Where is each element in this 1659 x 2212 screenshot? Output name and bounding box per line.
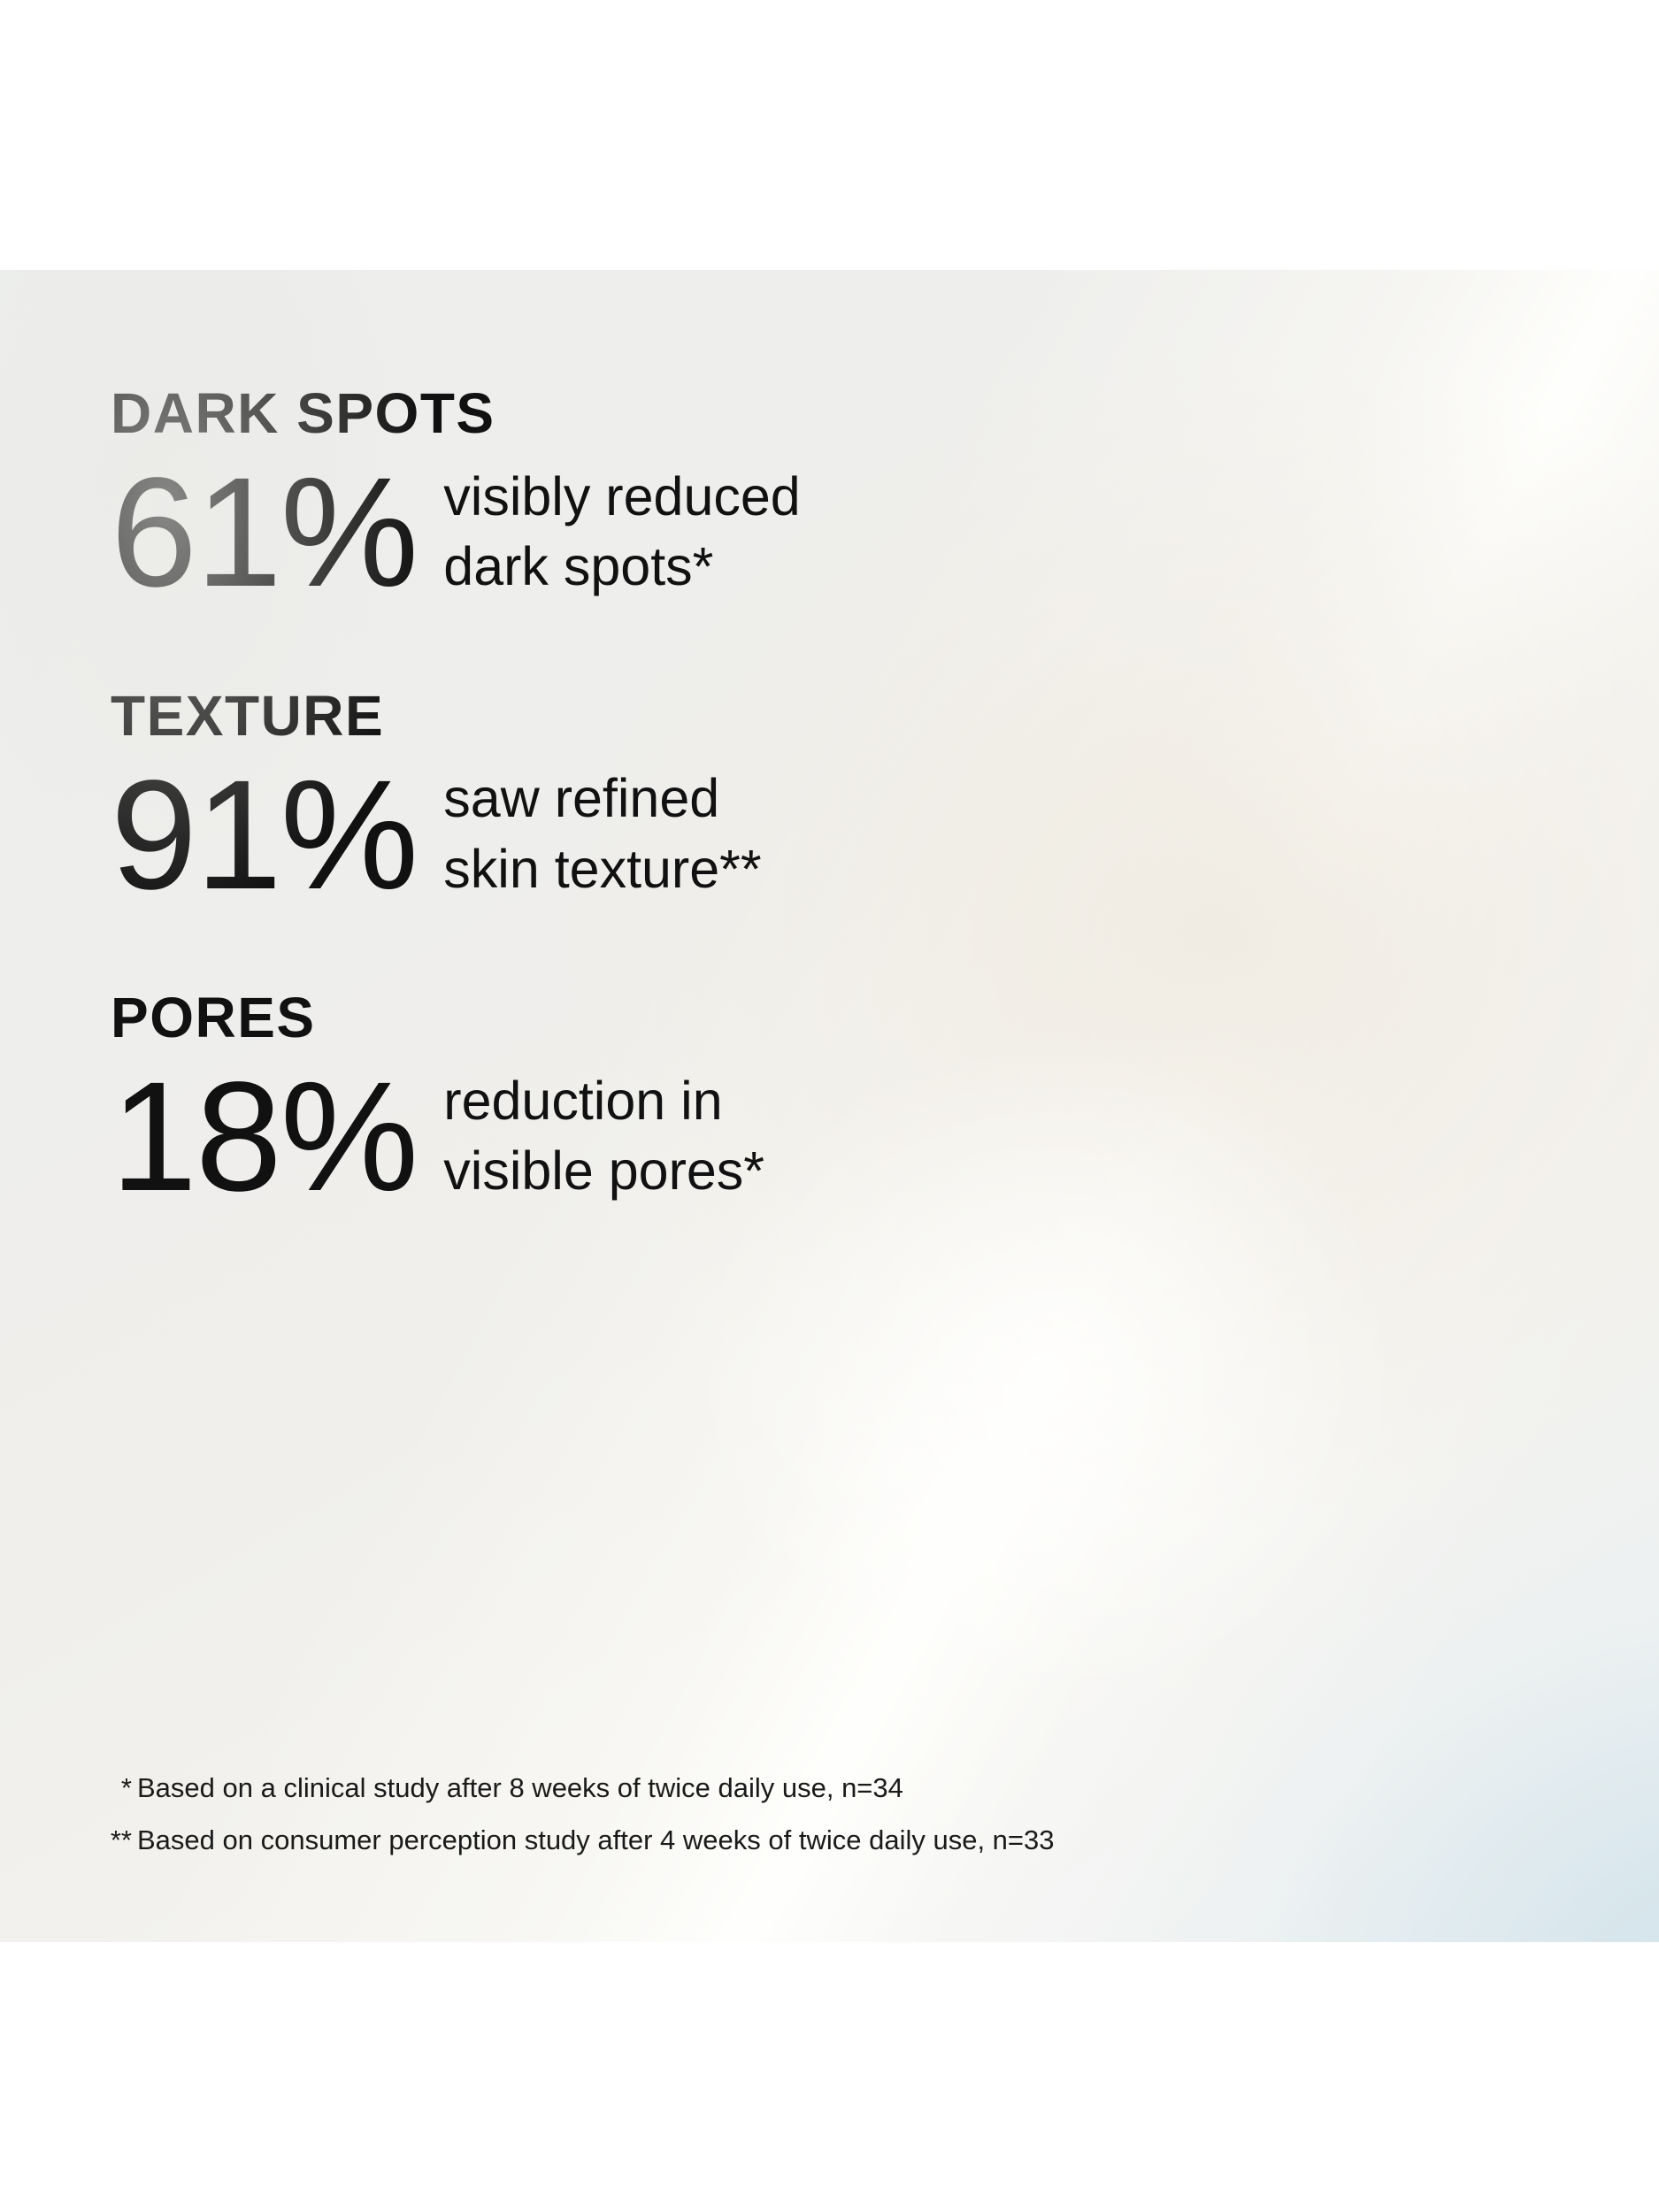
- stat-description-line2-pores: visible pores*: [443, 1136, 1172, 1206]
- stat-description-line1-pores: reduction in: [443, 1066, 1172, 1136]
- stat-description-line2-dark-spots: dark spots*: [443, 532, 1172, 602]
- footnote-double-asterisk: **Based on consumer perception study aft…: [102, 1826, 1429, 1854]
- stat-description-texture: saw refined skin texture**: [443, 764, 1172, 908]
- content-layer: DARK SPOTS 61% visibly reduced dark spot…: [0, 270, 1659, 1942]
- background-panel: DARK SPOTS 61% visibly reduced dark spot…: [0, 270, 1659, 1942]
- footnote-marker-single: *: [102, 1774, 132, 1801]
- stat-value-pores: 18%: [111, 1065, 417, 1210]
- stat-description-line2-texture: skin texture**: [443, 834, 1172, 904]
- footnote-single-asterisk: *Based on a clinical study after 8 weeks…: [102, 1774, 1429, 1801]
- footnote-text-double: Based on consumer perception study after…: [137, 1824, 1055, 1855]
- stat-block-dark-spots: DARK SPOTS 61% visibly reduced dark spot…: [111, 385, 1172, 606]
- stat-row-texture: 91% saw refined skin texture**: [111, 764, 1172, 909]
- footnote-list: *Based on a clinical study after 8 weeks…: [102, 1774, 1429, 1854]
- stat-block-texture: TEXTURE 91% saw refined skin texture**: [111, 687, 1172, 909]
- stat-heading-pores: PORES: [111, 989, 1172, 1046]
- stat-block-pores: PORES 18% reduction in visible pores*: [111, 989, 1172, 1210]
- stat-value-texture: 91%: [111, 764, 417, 909]
- stat-value-dark-spots: 61%: [111, 461, 417, 606]
- stat-row-pores: 18% reduction in visible pores*: [111, 1065, 1172, 1210]
- stat-description-pores: reduction in visible pores*: [443, 1066, 1172, 1210]
- stat-description-line1-texture: saw refined: [443, 764, 1172, 833]
- stat-description-dark-spots: visibly reduced dark spots*: [443, 462, 1172, 606]
- stat-description-line1-dark-spots: visibly reduced: [443, 462, 1172, 532]
- stat-row-dark-spots: 61% visibly reduced dark spots*: [111, 461, 1172, 606]
- footnote-text-single: Based on a clinical study after 8 weeks …: [137, 1772, 903, 1803]
- stat-heading-dark-spots: DARK SPOTS: [111, 385, 1172, 442]
- stat-heading-texture: TEXTURE: [111, 687, 1172, 744]
- stats-card: DARK SPOTS 61% visibly reduced dark spot…: [0, 0, 1659, 2212]
- stat-list: DARK SPOTS 61% visibly reduced dark spot…: [111, 385, 1172, 1210]
- footnote-marker-double: **: [102, 1826, 132, 1854]
